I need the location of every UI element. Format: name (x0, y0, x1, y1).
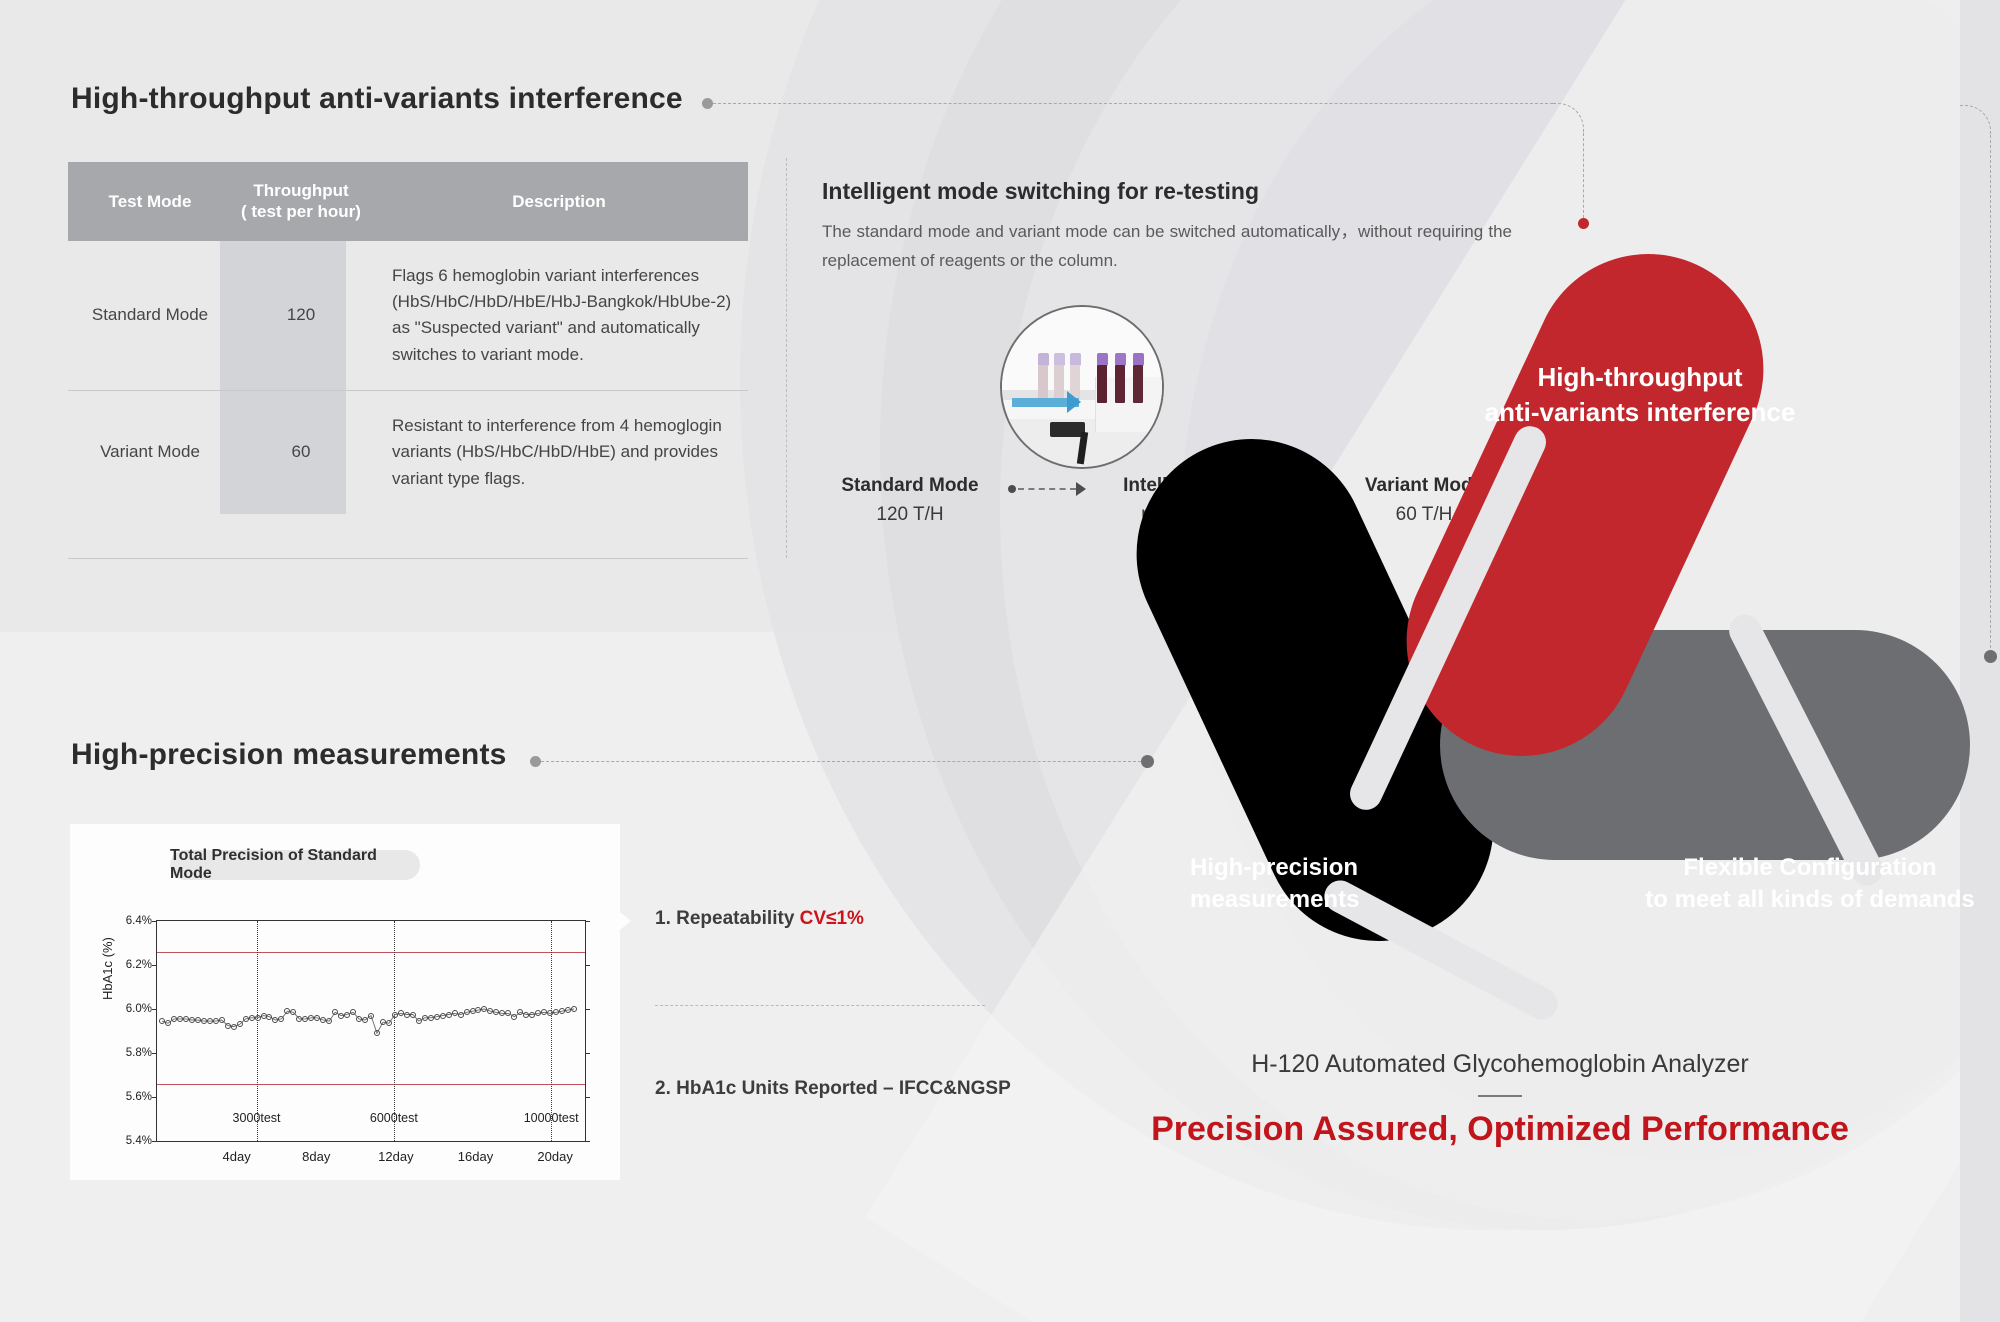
poster-canvas: High-throughput anti-variants interferen… (0, 0, 2000, 1322)
connector-dot-precision (530, 756, 541, 767)
tube-icon (1133, 365, 1143, 403)
chart-y-tick-label: 5.8% (126, 1047, 152, 1059)
chart-data-point (362, 1017, 368, 1023)
table-row: Variant Mode 60 Resistant to interferenc… (68, 390, 748, 514)
chart-data-point (165, 1020, 171, 1026)
flow-arrow-icon (1012, 398, 1079, 407)
chart-y-tick-label: 5.4% (126, 1135, 152, 1147)
triangle-label-gray-line2: to meet all kinds of demands (1600, 884, 2000, 916)
table-header-description: Description (370, 162, 748, 241)
flow-dot (1008, 485, 1016, 493)
flow-step-sub: 120 T/H (820, 501, 1000, 530)
triangle-label-black-line2: measurements (1190, 884, 1470, 916)
chart-title: Total Precision of Standard Mode (170, 850, 420, 880)
chart-y-tick-label: 6.4% (126, 915, 152, 927)
flow-step-label: Standard Mode (820, 472, 1000, 501)
note-text: 2. HbA1c Units Reported – IFCC&NGSP (655, 1078, 1011, 1099)
section-divider (786, 158, 787, 558)
chart-x-tick-label: 8day (302, 1149, 330, 1164)
triangle-label-gray: Flexible Configuration to meet all kinds… (1600, 852, 2000, 917)
note-repeatability: 1. Repeatability CV≤1% (655, 908, 864, 930)
table-header-throughput-line1: Throughput (241, 180, 361, 201)
product-tagline: Precision Assured, Optimized Performance (1100, 1110, 1900, 1149)
chart-plot-area: 5.4%5.6%5.8%6.0%6.2%6.4%3000test6000test… (156, 920, 586, 1142)
chart-y-tick-mark (585, 921, 590, 922)
connector-line-right-vertical (1990, 135, 1991, 653)
flow-arrow-icon (1076, 482, 1093, 496)
note-units: 2. HbA1c Units Reported – IFCC&NGSP (655, 1078, 1011, 1100)
chart-y-tick-mark (585, 1053, 590, 1054)
connector-dot-throughput (702, 98, 713, 109)
chart-data-point (278, 1016, 284, 1022)
chart-data-point (571, 1006, 577, 1012)
table-header-throughput: Throughput ( test per hour) (232, 162, 370, 241)
table-header-row: Test Mode Throughput ( test per hour) De… (68, 162, 748, 241)
page-title-precision: High-precision measurements (71, 738, 507, 772)
chart-data-point (416, 1018, 422, 1024)
connector-reddot-throughput (1578, 218, 1589, 229)
chart-y-tick-label: 6.2% (126, 959, 152, 971)
chart-y-tick-mark (152, 1141, 157, 1142)
chart-x-tick-label: 4day (223, 1149, 251, 1164)
table-body: Standard Mode 120 Flags 6 hemoglobin var… (68, 241, 748, 514)
tube-icon (1038, 365, 1048, 399)
tube-icon (1097, 365, 1107, 403)
chart-data-point (386, 1020, 392, 1026)
chart-data-point (237, 1021, 243, 1027)
chart-y-tick-mark (585, 965, 590, 966)
note-highlight: CV≤1% (800, 908, 864, 929)
instrument-photo (1000, 305, 1164, 469)
chart-y-tick-mark (585, 1009, 590, 1010)
table-cell-mode: Standard Mode (68, 241, 232, 390)
chart-data-point (410, 1012, 416, 1018)
chart-y-tick-label: 5.6% (126, 1091, 152, 1103)
product-rule (1478, 1095, 1522, 1097)
triangle-label-red-line2: anti-variants interference (1420, 395, 1860, 430)
chart-data-point (511, 1014, 517, 1020)
chart-y-tick-mark (585, 1141, 590, 1142)
table-cell-throughput: 60 (232, 391, 370, 514)
chart-data-point (374, 1030, 380, 1036)
chart-x-tick-label: 16day (458, 1149, 493, 1164)
chart-data-point (290, 1009, 296, 1015)
table-header-throughput-line2: ( test per hour) (241, 201, 361, 222)
note-marker-icon (615, 908, 644, 934)
note-text: 1. Repeatability (655, 908, 800, 929)
chart-data-point (219, 1017, 225, 1023)
chart-x-tick-label: 12day (378, 1149, 413, 1164)
table-cell-description: Resistant to interference from 4 hemoglo… (370, 391, 748, 514)
chart-y-tick-label: 6.0% (126, 1003, 152, 1015)
table-bottom-rule (68, 558, 748, 559)
table-cell-throughput: 120 (232, 241, 370, 390)
flow-connector-line (1018, 488, 1076, 490)
table-cell-mode: Variant Mode (68, 391, 232, 514)
info-title: Intelligent mode switching for re-testin… (822, 178, 1259, 205)
flow-step-standard: Standard Mode 120 T/H (820, 472, 1000, 529)
connector-line-precision (541, 761, 1141, 762)
table-cell-description: Flags 6 hemoglobin variant interferences… (370, 241, 748, 390)
table-row: Standard Mode 120 Flags 6 hemoglobin var… (68, 241, 748, 390)
triangle-label-black: High-precision measurements (1190, 852, 1470, 917)
connector-line-throughput-horizontal (713, 103, 1553, 104)
triangle-label-gray-line1: Flexible Configuration (1600, 852, 2000, 884)
chart-y-tick-mark (585, 1097, 590, 1098)
connector-line-throughput-vertical (1583, 133, 1584, 218)
chart-data-point (350, 1009, 356, 1015)
chart-y-axis-label: HbA1c (%) (100, 937, 115, 1000)
triangle-label-red-line1: High-throughput (1420, 360, 1860, 395)
page-title-throughput: High-throughput anti-variants interferen… (71, 82, 683, 116)
tube-icon (1054, 365, 1064, 399)
chart-x-tick-label: 20day (537, 1149, 572, 1164)
tube-icon (1115, 365, 1125, 403)
chart-data-point (368, 1013, 374, 1019)
throughput-table: Test Mode Throughput ( test per hour) De… (68, 162, 748, 514)
product-name: H-120 Automated Glycohemoglobin Analyzer (1100, 1050, 1900, 1079)
triangle-label-red: High-throughput anti-variants interferen… (1420, 360, 1860, 430)
chart-series-line (157, 921, 585, 1141)
note-divider (655, 1005, 985, 1006)
triangle-label-black-line1: High-precision (1190, 852, 1470, 884)
table-header-test-mode: Test Mode (68, 162, 232, 241)
chart-data-point (326, 1018, 332, 1024)
